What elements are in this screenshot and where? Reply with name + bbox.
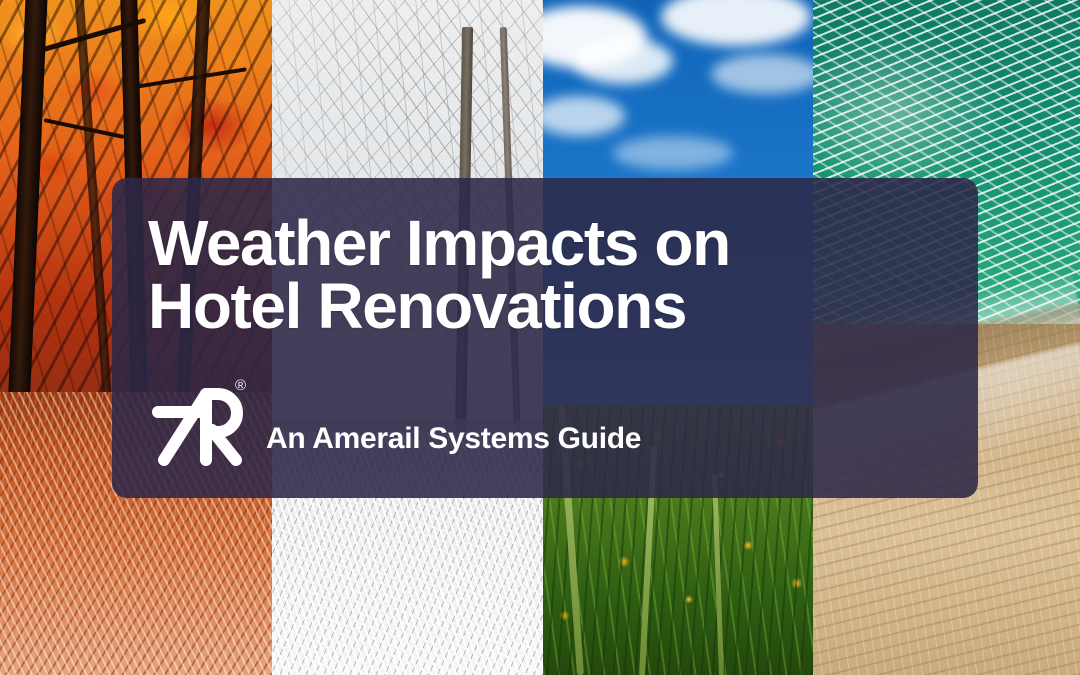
- cloud: [711, 54, 813, 94]
- cloud: [613, 136, 733, 170]
- ar-monogram-icon: [148, 374, 244, 470]
- registered-trademark-icon: ®: [235, 378, 246, 393]
- amerail-logo: ®: [148, 374, 244, 470]
- graphic-canvas: Weather Impacts on Hotel Renovations ®: [0, 0, 1080, 675]
- title-overlay-card: Weather Impacts on Hotel Renovations ®: [112, 178, 978, 498]
- subtitle: An Amerail Systems Guide: [266, 422, 641, 456]
- cloud: [573, 38, 673, 84]
- page-title: Weather Impacts on Hotel Renovations: [148, 212, 978, 339]
- brand-row: ® An Amerail Systems Guide: [148, 374, 641, 470]
